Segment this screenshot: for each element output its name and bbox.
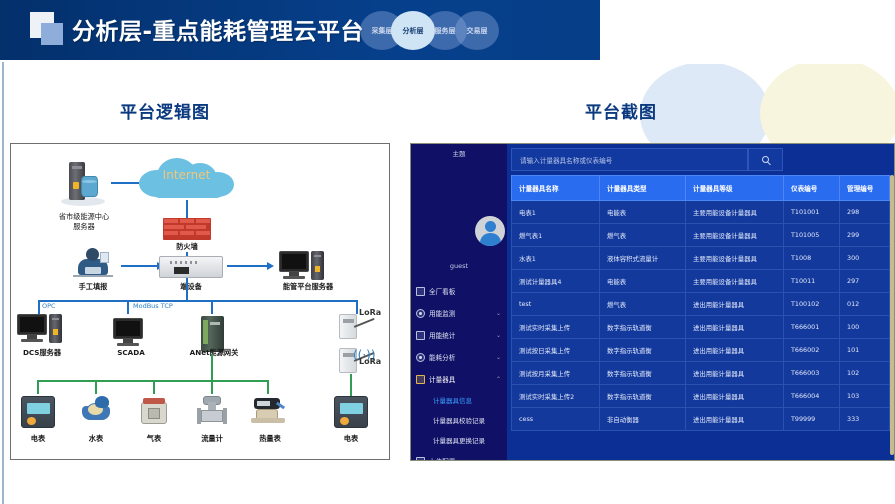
cell-meter-no: T101001 — [784, 201, 840, 224]
table-row[interactable]: 燃气表1 燃气表 主要用能设备计量器具 T101005 299 — [512, 224, 890, 247]
table-row[interactable]: 测试实时采集上传2 数字指示轨道衡 进出用能计量器具 T666004 103 — [512, 385, 890, 408]
search-button[interactable] — [748, 148, 783, 171]
cell-type: 液体容积式流量计 — [600, 247, 686, 270]
bus-drop-anet — [211, 300, 213, 314]
bus-horizontal — [38, 300, 358, 302]
table-row[interactable]: 测试实时采集上传 数字指示轨道衡 进出用能计量器具 T666001 100 — [512, 316, 890, 339]
cell-grade: 进出用能计量器具 — [686, 408, 784, 431]
link-server-cloud — [111, 182, 139, 184]
analysis-icon — [416, 353, 425, 362]
table-body: 电表1 电能表 主要用能设备计量器具 T101001 298 燃气表1 燃气表 … — [512, 201, 890, 431]
search-icon — [762, 156, 769, 163]
cell-meter-no: T100102 — [784, 293, 840, 316]
platform-server-label: 能管平台服务器 — [269, 282, 347, 292]
link-cloud-firewall — [186, 200, 188, 218]
cell-name: 测试计量器具4 — [512, 270, 600, 293]
cell-mgmt-no: 333 — [840, 408, 890, 431]
cell-mgmt-no: 101 — [840, 339, 890, 362]
cell-meter-no: T666002 — [784, 339, 840, 362]
green-bus-drop-anet — [211, 354, 213, 380]
cell-mgmt-no: 299 — [840, 224, 890, 247]
cell-type: 燃气表 — [600, 293, 686, 316]
cell-name: 测试按日采集上传 — [512, 339, 600, 362]
search-input[interactable]: 请输入计量器具名称或仪表编号 — [511, 148, 748, 171]
firewall-icon — [163, 218, 211, 240]
cell-grade: 主要用能设备计量器具 — [686, 224, 784, 247]
page-title: 分析层-重点能耗管理云平台 — [72, 12, 364, 46]
scada-icon — [113, 318, 147, 348]
sidebar-subitem-device-info-label: 计量器具信息 — [433, 395, 472, 405]
scada-label: SCADA — [111, 348, 151, 357]
sidebar-subitem-replacement-record[interactable]: 计量器具更换记录 — [411, 430, 507, 450]
header-logo-square-blue — [41, 23, 63, 45]
green-drop-lora — [350, 374, 352, 396]
table-row[interactable]: test 燃气表 进出用能计量器具 T100102 012 — [512, 293, 890, 316]
sidebar-subitem-replacement-record-label: 计量器具更换记录 — [433, 435, 485, 445]
cell-type: 数字指示轨道衡 — [600, 339, 686, 362]
cell-grade: 主要用能设备计量器具 — [686, 201, 784, 224]
meter-label-0: 电表 — [15, 434, 61, 444]
lora-bottom-label: LoRa — [359, 357, 381, 366]
meter-icon — [416, 375, 425, 384]
cell-type: 数字指示轨道衡 — [600, 316, 686, 339]
manual-entry-label: 手工填报 — [63, 282, 123, 292]
chevron-down-icon: ⌄ — [496, 332, 501, 339]
stats-icon — [416, 331, 425, 340]
stage-circle-analysis[interactable]: 分析层 — [391, 11, 435, 50]
cell-meter-no: T666003 — [784, 362, 840, 385]
cell-grade: 进出用能计量器具 — [686, 339, 784, 362]
green-drop-5 — [267, 380, 269, 394]
table-row[interactable]: 测试按月采集上传 数字指示轨道衡 进出用能计量器具 T666003 102 — [512, 362, 890, 385]
cell-mgmt-no: 300 — [840, 247, 890, 270]
column-header-type[interactable]: 计量器具类型 — [600, 176, 686, 201]
dcs-server-label: DCS服务器 — [11, 348, 73, 358]
cell-type: 电能表 — [600, 270, 686, 293]
cell-mgmt-no: 100 — [840, 316, 890, 339]
arrow-manual-to-edge-line — [121, 265, 157, 267]
cell-grade: 进出用能计量器具 — [686, 293, 784, 316]
meter-label-2: 气表 — [131, 434, 177, 444]
sidebar-subitem-verification-record-label: 计量器具校验记录 — [433, 415, 485, 425]
sidebar-menu: 全厂看板 用能监测 ⌄ 用能统计 ⌄ 能耗分析 ⌄ — [411, 280, 507, 461]
manual-entry-icon — [73, 248, 113, 280]
cell-mgmt-no: 102 — [840, 362, 890, 385]
cell-grade: 主要用能设备计量器具 — [686, 247, 784, 270]
bus-drop-scada — [127, 300, 129, 314]
cell-name: 测试按月采集上传 — [512, 362, 600, 385]
stage-circle-collect-label: 采集层 — [372, 26, 393, 36]
lora-top-label: LoRa — [359, 308, 381, 317]
cell-type: 数字指示轨道衡 — [600, 362, 686, 385]
protocol-label-opc: OPC — [42, 302, 56, 310]
stage-circle-analysis-label: 分析层 — [403, 26, 424, 36]
meter-icon-flow — [195, 396, 229, 428]
green-drop-3 — [153, 380, 155, 394]
cell-grade: 主要用能设备计量器具 — [686, 270, 784, 293]
stage-circle-trade-label: 交易层 — [467, 26, 488, 36]
table-header-row: 计量器具名称 计量器具类型 计量器具等级 仪表编号 管理编号 — [512, 176, 890, 201]
cell-mgmt-no: 298 — [840, 201, 890, 224]
meter-icon-electric-2 — [334, 396, 368, 428]
section-title-platform-screenshot: 平台截图 — [585, 98, 657, 123]
meter-icon-electric-1 — [21, 396, 55, 428]
chevron-down-icon: ⌄ — [496, 310, 501, 317]
cell-type: 燃气表 — [600, 224, 686, 247]
cell-meter-no: T101005 — [784, 224, 840, 247]
table-row[interactable]: 电表1 电能表 主要用能设备计量器具 T101001 298 — [512, 201, 890, 224]
edge-device-icon — [159, 256, 223, 278]
sidebar-item-upload-config[interactable]: 上传配置 ⌄ — [411, 450, 507, 461]
sidebar-item-metering-device[interactable]: 计量器具 ⌃ — [411, 368, 507, 390]
cell-meter-no: T666001 — [784, 316, 840, 339]
cell-mgmt-no: 297 — [840, 270, 890, 293]
meter-label-5: 电表 — [328, 434, 374, 444]
column-header-grade[interactable]: 计量器具等级 — [686, 176, 784, 201]
chevron-down-icon: ⌄ — [496, 354, 501, 361]
protocol-label-modbus: ModBus TCP — [133, 302, 173, 310]
sidebar-item-monitor[interactable]: 用能监测 ⌄ — [411, 302, 507, 324]
meter-icon-heat — [251, 396, 285, 428]
cell-name: cess — [512, 408, 600, 431]
column-header-meter-no[interactable]: 仪表编号 — [784, 176, 840, 201]
cell-name: test — [512, 293, 600, 316]
column-header-name[interactable]: 计量器具名称 — [512, 176, 600, 201]
meter-label-3: 流量计 — [187, 434, 237, 444]
monitor-icon — [416, 309, 425, 318]
slide-root: 分析层-重点能耗管理云平台 采集层 服务层 交易层 分析层 CHINA ENER… — [0, 0, 895, 504]
table-row[interactable]: 测试计量器具4 电能表 主要用能设备计量器具 T10011 297 — [512, 270, 890, 293]
cell-grade: 进出用能计量器具 — [686, 362, 784, 385]
sidebar-item-analysis[interactable]: 能耗分析 ⌄ — [411, 346, 507, 368]
cell-name: 测试实时采集上传2 — [512, 385, 600, 408]
decor-mask — [600, 0, 895, 64]
cell-grade: 进出用能计量器具 — [686, 316, 784, 339]
platform-logic-diagram: 省市级能源中心服务器 Internet 防火墙 手工填报 — [10, 143, 390, 460]
meter-label-1: 水表 — [73, 434, 119, 444]
cell-type: 数字指示轨道衡 — [600, 385, 686, 408]
sidebar-subitem-device-info[interactable]: 计量器具信息 — [411, 390, 507, 410]
internet-cloud-icon: Internet — [139, 156, 234, 198]
cell-mgmt-no: 103 — [840, 385, 890, 408]
green-drop-1 — [37, 380, 39, 394]
cell-grade: 进出用能计量器具 — [686, 385, 784, 408]
cell-meter-no: T10011 — [784, 270, 840, 293]
cell-meter-no: T666004 — [784, 385, 840, 408]
province-server-label: 省市级能源中心服务器 — [39, 212, 129, 231]
table-row[interactable]: 测试按日采集上传 数字指示轨道衡 进出用能计量器具 T666002 101 — [512, 339, 890, 362]
cell-name: 燃气表1 — [512, 224, 600, 247]
sidebar-item-dashboard-label: 全厂看板 — [429, 286, 455, 296]
meter-label-4: 热量表 — [245, 434, 295, 444]
cell-name: 测试实时采集上传 — [512, 316, 600, 339]
search-toolbar: 请输入计量器具名称或仪表编号 — [511, 148, 889, 171]
anet-gateway-label: ANet能源网关 — [179, 348, 249, 358]
section-title-logic-diagram: 平台逻辑图 — [120, 98, 210, 123]
cell-name: 电表1 — [512, 201, 600, 224]
sidebar-item-monitor-label: 用能监测 — [429, 308, 455, 318]
arrow-edge-to-platform-line — [227, 265, 267, 267]
cell-meter-no: T1008 — [784, 247, 840, 270]
chevron-down-icon: ⌄ — [496, 458, 501, 461]
theme-label[interactable]: 主题 — [411, 148, 507, 158]
vertical-scrollbar[interactable] — [890, 175, 894, 455]
sidebar-subitem-verification-record[interactable]: 计量器具校验记录 — [411, 410, 507, 430]
sidebar-item-analysis-label: 能耗分析 — [429, 352, 455, 362]
metering-device-table: 计量器具名称 计量器具类型 计量器具等级 仪表编号 管理编号 电表1 电能表 主… — [511, 175, 890, 431]
avatar[interactable] — [475, 216, 505, 246]
firewall-label: 防火墙 — [163, 242, 211, 252]
table-row[interactable]: 水表1 液体容积式流量计 主要用能设备计量器具 T1008 300 — [512, 247, 890, 270]
cell-name: 水表1 — [512, 247, 600, 270]
stage-circle-service-label: 服务层 — [435, 26, 456, 36]
sidebar-item-statistics-label: 用能统计 — [429, 330, 455, 340]
cell-meter-no: T99999 — [784, 408, 840, 431]
cell-type: 非自动衡器 — [600, 408, 686, 431]
sidebar-item-dashboard[interactable]: 全厂看板 — [411, 280, 507, 302]
green-drop-2 — [95, 380, 97, 394]
sidebar-item-upload-config-label: 上传配置 — [429, 456, 455, 461]
green-drop-4 — [211, 380, 213, 394]
left-edge-rule — [2, 62, 4, 504]
cell-type: 电能表 — [600, 201, 686, 224]
app-sidebar: 主题 guest 全厂看板 用能监测 ⌄ 用能统计 ⌄ — [411, 144, 507, 461]
upload-icon — [416, 457, 425, 462]
internet-cloud-label: Internet — [139, 168, 234, 182]
platform-server-icon — [279, 251, 326, 281]
meter-icon-water — [79, 396, 113, 428]
stage-circles: 采集层 服务层 交易层 分析层 — [360, 11, 510, 50]
dashboard-icon — [416, 287, 425, 296]
bus-drop-dcs — [38, 300, 40, 314]
edge-device-label: 端设备 — [163, 282, 219, 292]
meter-icon-gas — [137, 396, 171, 428]
platform-screenshot: 主题 guest 全厂看板 用能监测 ⌄ 用能统计 ⌄ — [410, 143, 895, 461]
anet-gateway-icon — [201, 316, 224, 352]
chevron-up-icon: ⌃ — [496, 376, 501, 383]
search-input-placeholder: 请输入计量器具名称或仪表编号 — [520, 155, 612, 165]
bus-drop-edge — [186, 278, 188, 300]
sidebar-item-metering-device-label: 计量器具 — [429, 374, 455, 384]
arrow-edge-to-platform-head — [267, 262, 274, 270]
stage-circle-trade[interactable]: 交易层 — [455, 11, 499, 50]
dcs-server-icon — [17, 314, 64, 344]
cell-mgmt-no: 012 — [840, 293, 890, 316]
sidebar-item-statistics[interactable]: 用能统计 ⌄ — [411, 324, 507, 346]
app-content: 请输入计量器具名称或仪表编号 计量器具名称 计量器具类型 计量器具等级 仪表编号 — [507, 144, 895, 461]
table-row[interactable]: cess 非自动衡器 进出用能计量器具 T99999 333 — [512, 408, 890, 431]
column-header-mgmt-no[interactable]: 管理编号 — [840, 176, 890, 201]
sidebar-username: guest — [411, 262, 507, 270]
